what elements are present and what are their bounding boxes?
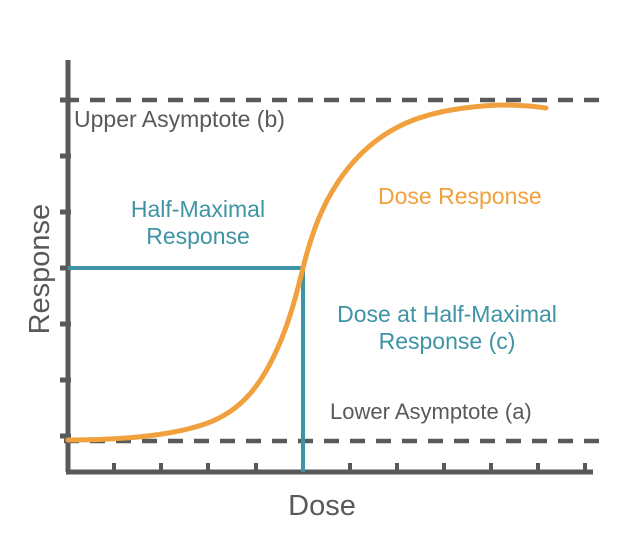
dose-response-label: Dose Response — [378, 183, 542, 210]
dose-response-curve — [68, 105, 546, 440]
dose-response-chart: Upper Asymptote (b) Lower Asymptote (a) … — [0, 0, 644, 549]
upper-asymptote-label: Upper Asymptote (b) — [74, 106, 285, 133]
x-axis-label: Dose — [0, 489, 644, 523]
lower-asymptote-label: Lower Asymptote (a) — [330, 399, 532, 425]
dose-at-half-maximal-label: Dose at Half-Maximal Response (c) — [313, 301, 581, 355]
chart-canvas — [0, 0, 644, 549]
y-axis-label: Response — [23, 149, 57, 389]
half-maximal-response-label: Half-Maximal Response — [98, 196, 298, 250]
